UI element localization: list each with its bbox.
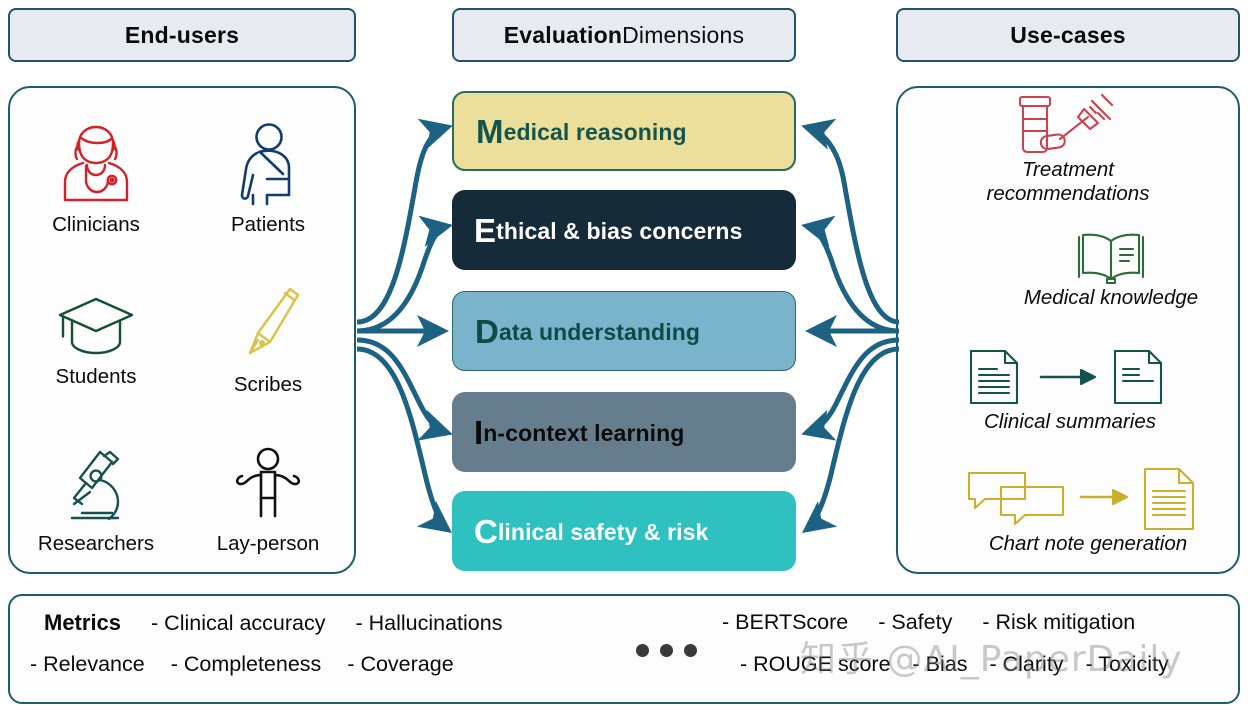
- metrics-row-4: - ROUGE score - Bias - Clarity - Toxicit…: [740, 652, 1169, 677]
- end-user-label: Scribes: [234, 373, 302, 397]
- dimension-initial: M: [476, 113, 504, 150]
- header-end-users: End-users: [8, 8, 356, 62]
- dimension-initial: E: [474, 212, 496, 249]
- metric-item: - Completeness: [171, 652, 322, 677]
- panel-use-cases: Treatment recommendations Medical knowle…: [896, 86, 1240, 574]
- diagram-canvas: End-users Evaluation Dimensions Use-case…: [0, 0, 1248, 716]
- header-use-cases-bold: Use-cases: [1010, 22, 1126, 49]
- dimension-initial: D: [475, 313, 499, 350]
- metric-item: - Clarity: [990, 652, 1064, 677]
- ellipsis-dot: [684, 644, 697, 657]
- end-user-label: Clinicians: [52, 213, 140, 237]
- microscope-icon: [54, 446, 138, 528]
- use-case-clinical-summaries[interactable]: Clinical summaries: [898, 330, 1238, 451]
- pill-bottle-syringe-icon: [1004, 91, 1132, 157]
- end-user-label: Students: [56, 365, 137, 389]
- fountain-pen-icon: [232, 283, 304, 369]
- header-use-cases: Use-cases: [896, 8, 1240, 62]
- use-case-treatment-recommendations[interactable]: Treatment recommendations: [898, 88, 1238, 209]
- ellipsis-dot: [660, 644, 673, 657]
- use-case-label: Clinical summaries: [984, 410, 1156, 434]
- dimension-box-medical-reasoning[interactable]: Medical reasoning: [452, 91, 796, 171]
- patient-arm-sling-icon: [227, 121, 309, 209]
- metrics-ellipsis: [636, 644, 697, 657]
- chat-to-document-icon: [963, 467, 1213, 531]
- use-cases-list: Treatment recommendations Medical knowle…: [898, 88, 1238, 572]
- end-user-lay-person[interactable]: Lay-person: [182, 421, 354, 582]
- metric-item: - Risk mitigation: [982, 610, 1135, 635]
- metrics-row-2: - Relevance - Completeness - Coverage: [30, 652, 454, 677]
- end-user-clinicians[interactable]: Clinicians: [10, 98, 182, 259]
- metrics-panel: Metrics - Clinical accuracy - Hallucinat…: [8, 594, 1240, 704]
- dimension-label: linical safety & risk: [498, 519, 708, 545]
- end-user-label: Researchers: [38, 532, 154, 556]
- use-case-medical-knowledge[interactable]: Medical knowledge: [898, 209, 1238, 330]
- metric-item: - Relevance: [30, 652, 145, 677]
- dimension-label: edical reasoning: [504, 119, 687, 145]
- panel-end-users: Clinicians Patients: [8, 86, 356, 574]
- end-user-label: Lay-person: [217, 532, 320, 556]
- dimension-label: ata understanding: [499, 319, 700, 345]
- dimension-box-ethical-bias-concerns[interactable]: Ethical & bias concerns: [452, 190, 796, 270]
- open-book-icon: [1071, 229, 1151, 285]
- header-end-users-bold: End-users: [125, 22, 239, 49]
- dimension-label: n-context learning: [483, 420, 684, 446]
- metric-item: - Coverage: [347, 652, 453, 677]
- header-evaluation-dimensions: Evaluation Dimensions: [452, 8, 796, 62]
- use-case-chart-note-generation[interactable]: Chart note generation: [898, 451, 1238, 572]
- dimension-initial: I: [474, 414, 483, 451]
- metric-item: - Bias: [913, 652, 968, 677]
- end-user-patients[interactable]: Patients: [182, 98, 354, 259]
- end-users-grid: Clinicians Patients: [10, 98, 354, 582]
- end-user-students[interactable]: Students: [10, 259, 182, 420]
- metric-item: - Hallucinations: [355, 611, 502, 636]
- metric-item: - Safety: [878, 610, 952, 635]
- metric-item: - BERTScore: [722, 610, 848, 635]
- use-case-label: Treatment recommendations: [953, 158, 1183, 206]
- metric-item: - Toxicity: [1086, 652, 1169, 677]
- metrics-row-3: - BERTScore - Safety - Risk mitigation: [722, 610, 1135, 635]
- metrics-row-1: Metrics - Clinical accuracy - Hallucinat…: [44, 610, 502, 636]
- dimension-box-clinical-safety-risk[interactable]: Clinical safety & risk: [452, 491, 796, 571]
- dimension-label: thical & bias concerns: [496, 218, 742, 244]
- document-to-document-icon: [955, 347, 1185, 409]
- end-user-label: Patients: [231, 213, 305, 237]
- graduation-cap-icon: [53, 291, 139, 361]
- end-user-researchers[interactable]: Researchers: [10, 421, 182, 582]
- dimension-box-data-understanding[interactable]: Data understanding: [452, 291, 796, 371]
- dimension-box-in-context-learning[interactable]: In-context learning: [452, 392, 796, 472]
- clinician-icon: [55, 121, 137, 209]
- person-icon: [226, 446, 310, 528]
- metric-item: - ROUGE score: [740, 652, 891, 677]
- end-user-scribes[interactable]: Scribes: [182, 259, 354, 420]
- use-case-label: Chart note generation: [989, 532, 1187, 556]
- metric-item: - Clinical accuracy: [151, 611, 325, 636]
- metrics-title: Metrics: [44, 610, 121, 636]
- dimension-initial: C: [474, 513, 498, 550]
- use-case-label: Medical knowledge: [1024, 286, 1198, 310]
- header-evaluation-rest: Dimensions: [622, 22, 744, 49]
- ellipsis-dot: [636, 644, 649, 657]
- header-evaluation-bold: Evaluation: [504, 22, 622, 49]
